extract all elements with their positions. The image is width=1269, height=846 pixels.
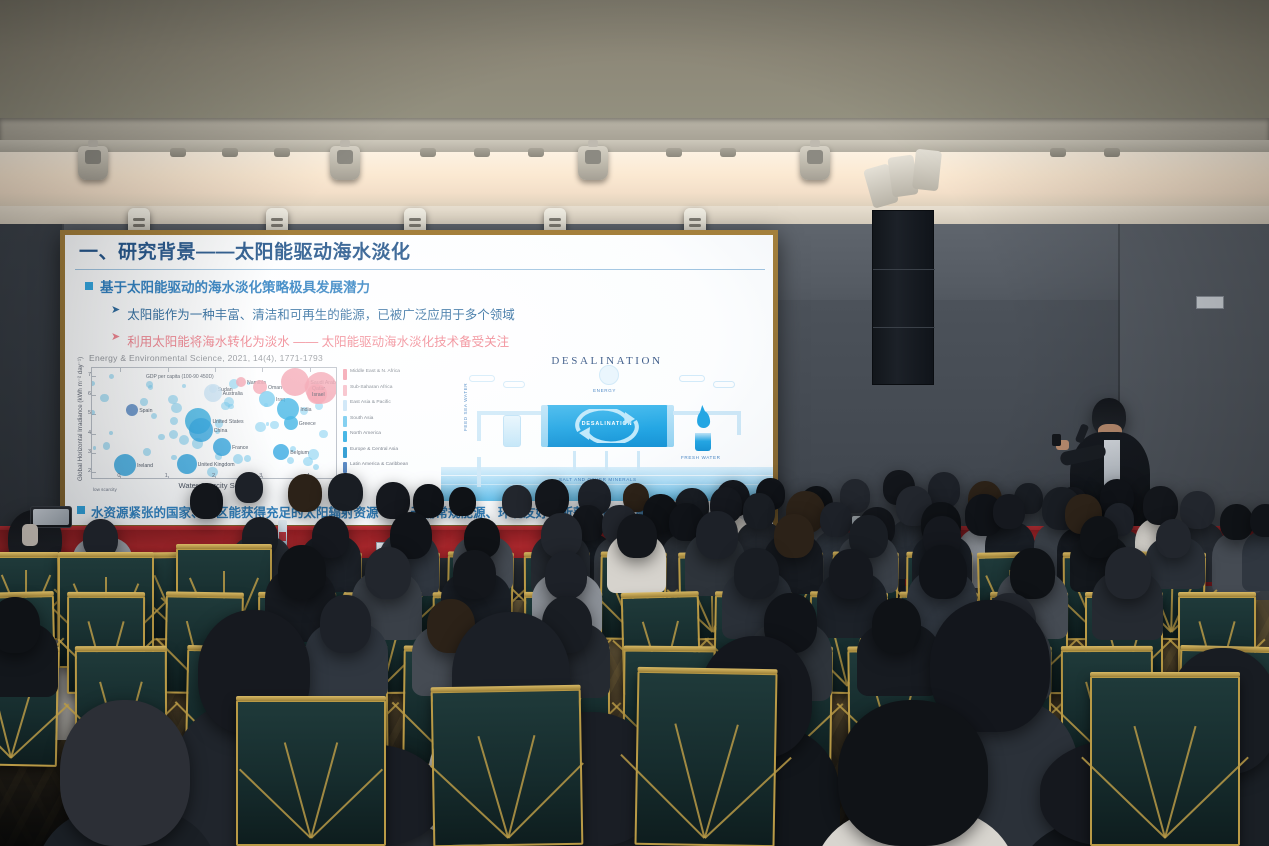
chart-legend: Middle East & N. Africa Sub-Saharan Afri… [343,369,431,478]
brine-outlet-pipe [605,451,608,471]
chart-citation: Energy & Environmental Science, 2021, 14… [75,353,433,363]
chair-top-rail [1061,646,1153,651]
chart-bubble [103,442,111,450]
chart-point-label: Ireland [137,463,153,469]
chart-bubble [148,385,153,390]
chart-bubble [189,418,213,442]
audience-member-head [774,514,813,558]
chart-bubble [171,455,177,461]
fresh-water-label: FRESH WATER [681,455,721,460]
audience-member-head [535,479,570,517]
chair-top-rail [623,646,715,652]
photographer-hand [22,524,38,546]
chart-canvas: GDP per capita (100-90 450D) NamibiaOman… [91,367,337,479]
chart-bubble [93,446,97,450]
legend-label: Europe & Central Asia [350,447,398,453]
ceiling [0,0,1269,118]
ceiling-downlight-icon [222,148,238,157]
chart-bubble [109,431,113,435]
chart-bubble [179,435,189,445]
legend-label: North America [350,431,381,437]
clicker-remote [1052,434,1061,446]
chart-bubble [126,404,138,416]
audience-member-head [235,472,263,503]
slide-figures-row: Energy & Environmental Science, 2021, 14… [75,353,773,501]
chart-point-label: United Kingdom [198,462,235,468]
fresh-water-glass-icon [695,433,711,451]
chair-top-rail [621,591,699,598]
chart-bubble [270,421,279,430]
chart-bubble [259,391,275,407]
chart-bubble [100,394,109,403]
audience-member-head [320,595,371,653]
intake-pipe [477,411,481,441]
chart-point-label: Belgium [290,450,309,456]
audience-member-head [365,547,411,598]
chart-bubble [170,417,178,425]
audience-member-head [502,485,532,518]
audience-member-head [60,700,190,846]
ceiling-spotlight-icon [330,146,360,180]
chair-top-rail [68,592,146,597]
chart-bubble [169,430,179,440]
audience-chair[interactable] [1090,676,1240,846]
chart-bubble [266,422,269,425]
audience-member-head [0,597,40,653]
desalination-diagram: DESALINATION ENERGY FEED SEA WATER [441,353,773,501]
ceiling-downlight-icon [420,148,436,157]
audience-member-head [328,473,363,511]
chart-legend-item: Europe & Central Asia [343,447,431,458]
legend-swatch [343,400,347,411]
legend-swatch [343,416,347,427]
projection-screen-frame: 一、研究背景——太阳能驱动海水淡化 基于太阳能驱动的海水淡化策略极具发展潜力 ➤… [60,230,778,530]
chart-legend-item: South Asia [343,416,431,427]
ceiling-downlight-icon [720,148,736,157]
chart-x-tick [262,368,263,372]
chart-bubble [213,438,231,456]
chart-x-tick-label: 2 [212,473,215,479]
legend-swatch [343,385,347,396]
chair-fan-pattern [244,708,378,838]
chart-bubble [287,457,294,464]
audience-member-head [617,514,656,558]
chart-bubble [228,404,233,409]
legend-swatch [343,369,347,380]
chart-point-label: Spain [139,408,152,414]
chart-point-label: France [232,445,248,451]
audience-member-head [1010,548,1055,598]
energy-label: ENERGY [593,388,616,393]
cloud-icon [679,375,705,382]
legend-swatch [343,431,347,442]
chair-fan-pattern [439,697,575,839]
slide-bullet-level2-a: ➤ 太阳能作为一种丰富、清洁和可再生的能源，已被广泛应用于多个领域 [75,304,765,323]
pretreatment-tank [503,415,521,447]
ceiling-downlight-icon [170,148,186,157]
cove-lighting-glow [0,152,1269,210]
chart-bubble [182,384,186,388]
chart-x-tick [120,368,121,372]
projection-screen: 一、研究背景——太阳能驱动海水淡化 基于太阳能驱动的海水淡化策略极具发展潜力 ➤… [65,235,773,525]
audience-member-head [993,494,1025,529]
chart-low-scarcity-note: low scarcity [93,487,117,492]
legend-swatch [343,447,347,458]
chart-legend-item: Middle East & N. Africa [343,369,431,380]
ceiling-downlight-icon [274,148,290,157]
audience-member-head [190,483,223,519]
audience-chair[interactable] [236,700,386,846]
chair-top-rail [176,544,272,549]
chair-fan-pattern [643,679,770,839]
wall-sign [1196,296,1224,309]
cloud-icon [469,375,495,382]
ceiling-downlight-icon [1104,148,1120,157]
legend-swatch [343,462,347,473]
brine-outlet-pipe [637,451,640,471]
chart-point-label: Australia [223,391,243,397]
chart-y-tick [92,453,96,454]
chart-legend-item: North America [343,431,431,442]
audience-member-head [838,700,988,846]
chart-legend-item: East Asia & Pacific [343,400,431,411]
arrow-bullet-icon: ➤ [111,304,120,318]
chart-legend-item: Latin America & Caribbean [343,462,431,473]
chart-bubble [236,377,246,387]
chart-bubble [255,422,266,433]
chart-x-tick-label: 0 [117,473,120,479]
chart-y-tick [92,395,96,396]
cloud-icon [503,381,525,388]
audience-member-head [1105,547,1151,598]
chair-fan-pattern [1098,684,1232,838]
audience-member-torso [1242,531,1269,591]
chart-x-tick-label: 1 [165,473,168,479]
audience-member-head [734,548,779,598]
square-bullet-icon [77,506,85,514]
slide-title-divider [75,269,765,270]
ceiling-spotlight-icon [800,146,830,180]
line-array-speaker [872,210,934,385]
chart-size-note: GDP per capita (100-90 450D) [146,374,214,381]
legend-label: South Asia [350,416,373,422]
audience-member-head [1220,504,1253,540]
slide-bullet-level2-a-text: 太阳能作为一种丰富、清洁和可再生的能源，已被广泛应用于多个领域 [127,304,515,323]
ceiling-downlight-icon [666,148,682,157]
chart-bubble [177,454,197,474]
legend-label: Latin America & Caribbean [350,462,408,468]
chair-top-rail [165,591,243,597]
chair-top-rail [58,552,154,557]
chart-point-label: Israel [312,392,325,398]
chart-bubble [319,430,328,439]
audience-member-head [743,493,775,529]
audience-member-head [829,549,873,598]
conference-hall-photo: 一、研究背景——太阳能驱动海水淡化 基于太阳能驱动的海水淡化策略极具发展潜力 ➤… [0,0,1269,846]
slide-title: 一、研究背景——太阳能驱动海水淡化 [75,239,765,268]
brine-outlet-pipe [573,451,576,471]
slide-bullet-level2-b: ➤ 利用太阳能将海水转化为淡水 —— 太阳能驱动海水淡化技术备受关注 [75,331,765,350]
chair-top-rail [236,696,386,701]
speaker-rigging [862,148,954,210]
chair-top-rail [638,667,778,674]
audience-member-head [449,487,475,516]
arrow-bullet-icon: ➤ [111,331,120,345]
legend-label: Sub-Saharan Africa [350,385,392,391]
chart-bubble [140,398,147,405]
chart-x-tick [215,368,216,372]
ceiling-downlight-icon [528,148,544,157]
audience-member-head [288,474,322,512]
chair-top-rail [1090,672,1240,677]
audience-member-head [820,502,852,537]
slide-bullet-level1: 基于太阳能驱动的海水淡化策略极具发展潜力 [75,276,765,296]
ceiling-spotlight-icon [578,146,608,180]
cloud-icon [713,381,735,388]
product-pipe [737,411,741,435]
sun-icon [599,365,619,385]
chart-bubble [158,434,165,441]
chart-bubble [143,448,151,456]
audience-chair[interactable] [634,671,777,846]
audience-member-head [872,598,921,653]
chart-point-label: United States [212,419,243,425]
legend-label: Middle East & N. Africa [350,369,400,375]
chart-bubble [308,449,319,460]
audience-member-head [278,545,326,599]
slide-bullet-level2-b-text: 利用太阳能将海水转化为淡水 —— 太阳能驱动海水淡化技术备受关注 [127,331,509,350]
chart-point-label: India [300,407,311,413]
chart-bubble [313,464,319,470]
chart-point-label: Oman [268,385,282,391]
chart-x-tick [168,368,169,372]
audience-member-head [696,511,738,558]
audience-member-head [1250,504,1269,538]
square-bullet-icon [85,282,93,290]
audience-member-head [545,551,587,599]
slide-bullet-level1-text: 基于太阳能驱动的海水淡化策略极具发展潜力 [100,276,370,296]
chart-point-label: China [214,428,228,434]
presentation-slide: 一、研究背景——太阳能驱动海水淡化 基于太阳能驱动的海水淡化策略极具发展潜力 ➤… [65,235,773,525]
chart-legend-item: Sub-Saharan Africa [343,385,431,396]
chart-y-tick [92,434,96,435]
audience-member-head [1156,519,1191,558]
chart-bubble [109,374,114,379]
chart-y-tick [92,376,96,377]
chart-bubble [204,384,222,402]
audience-member-head [453,550,496,598]
feed-water-label: FEED SEA WATER [463,383,468,431]
legend-label: East Asia & Pacific [350,400,391,406]
audience-chair[interactable] [431,689,584,846]
ceiling-downlight-icon [1050,148,1066,157]
chair-top-rail [75,646,167,651]
ceiling-spotlight-icon [78,146,108,180]
chart-bubble [91,381,95,387]
chart-bubble [244,455,251,462]
chair-top-rail [1178,592,1256,597]
ceiling-downlight-icon [474,148,490,157]
recycle-arrows-icon [569,409,645,443]
intake-pipe [477,457,481,487]
chart-x-tick [310,368,311,372]
chart-bubble [284,416,298,430]
chart-bubble [171,403,182,414]
chart-y-tick-labels: 234567 [83,367,91,479]
audience-member-head [919,545,967,598]
chart-point-label: Greece [299,421,316,427]
chair-top-rail [0,552,59,557]
